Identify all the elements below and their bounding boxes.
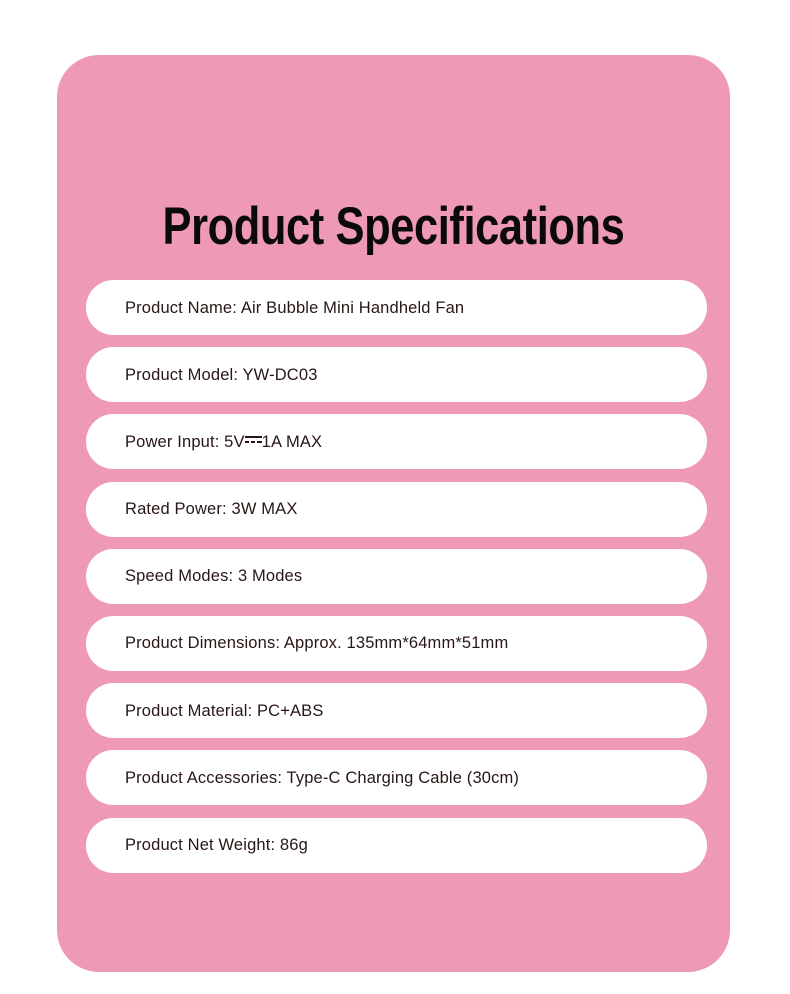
spec-row-product-model: Product Model: YW-DC03	[86, 347, 707, 402]
spec-row-text: Product Net Weight: 86g	[125, 835, 308, 855]
spec-row-text: Speed Modes: 3 Modes	[125, 566, 302, 586]
spec-row-product-dimensions: Product Dimensions: Approx. 135mm*64mm*5…	[86, 616, 707, 671]
spec-row-product-net-weight: Product Net Weight: 86g	[86, 818, 707, 873]
spec-row-text: Product Model: YW-DC03	[125, 365, 318, 385]
spec-row-speed-modes: Speed Modes: 3 Modes	[86, 549, 707, 604]
power-input-suffix: 1A MAX	[262, 432, 323, 452]
spec-row-text: Rated Power: 3W MAX	[125, 499, 298, 519]
spec-row-text: Product Material: PC+ABS	[125, 701, 323, 721]
power-input-prefix: Power Input: 5V	[125, 432, 245, 452]
product-specifications-card: Product Specifications Product Name: Air…	[57, 55, 730, 972]
spec-row-power-input: Power Input: 5V 1A MAX	[86, 414, 707, 469]
spec-row-text: Product Name: Air Bubble Mini Handheld F…	[125, 298, 464, 318]
spec-row-product-material: Product Material: PC+ABS	[86, 683, 707, 738]
spec-row-text: Product Dimensions: Approx. 135mm*64mm*5…	[125, 633, 508, 653]
spec-row-rated-power: Rated Power: 3W MAX	[86, 482, 707, 537]
spec-list: Product Name: Air Bubble Mini Handheld F…	[86, 280, 707, 873]
dc-voltage-icon	[245, 434, 262, 445]
spec-row-text: Power Input: 5V 1A MAX	[125, 432, 322, 452]
page-title: Product Specifications	[118, 196, 670, 258]
spec-row-product-name: Product Name: Air Bubble Mini Handheld F…	[86, 280, 707, 335]
spec-row-product-accessories: Product Accessories: Type-C Charging Cab…	[86, 750, 707, 805]
spec-row-text: Product Accessories: Type-C Charging Cab…	[125, 768, 519, 788]
